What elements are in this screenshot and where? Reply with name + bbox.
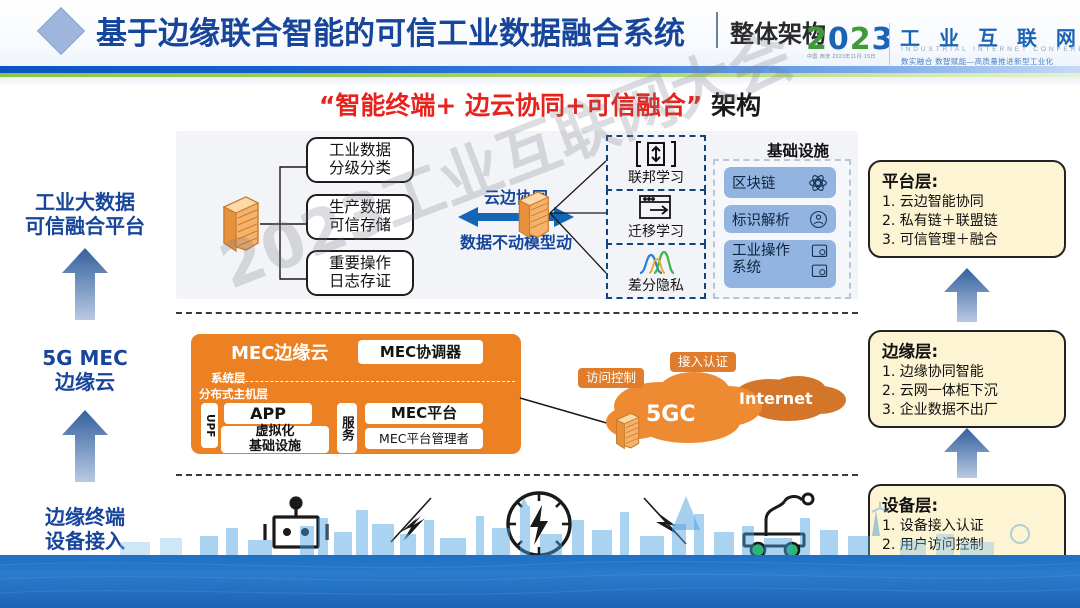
mec-edge-cloud-box: MEC边缘云 MEC协调器 系统层 分布式主机层 UPF APP 虚拟化 基础设…: [191, 334, 521, 454]
right-panel-edge-list: 1. 边缘协同智能 2. 云网一体柜下沉 3. 企业数据不出厂: [882, 363, 1062, 420]
header-bar-blue: [0, 66, 1080, 73]
platform-layer-panel: 工业数据 分级分类 生产数据 可信存储 重要操作 日志存证 云边协同 数据不动模…: [176, 131, 858, 299]
differential-privacy-label: 差分隐私: [608, 275, 704, 295]
slide-header: 基于边缘联合智能的可信工业数据融合系统 整体架构 2023 中国·西安 2023…: [0, 0, 1080, 66]
mec-app[interactable]: APP: [224, 403, 312, 424]
left-axis-label-edge: 5G MEC 边缘云: [10, 346, 160, 394]
industrial-os-icon: [811, 243, 828, 280]
internet-cloud-label: Internet: [739, 389, 813, 408]
mec-platform[interactable]: MEC平台: [365, 403, 483, 424]
transfer-learning-label: 迁移学习: [608, 221, 704, 241]
mec-host-layer-label: 分布式主机层: [199, 386, 268, 402]
infra-item-identity[interactable]: 标识解析: [724, 205, 836, 233]
water-ripple-decoration: [0, 555, 1080, 608]
slide-root: 基于边缘联合智能的可信工业数据融合系统 整体架构 2023 中国·西安 2023…: [0, 0, 1080, 608]
right-panel-edge[interactable]: 边缘层: 1. 边缘协同智能 2. 云网一体柜下沉 3. 企业数据不出厂: [868, 330, 1066, 428]
blockchain-icon: [808, 173, 828, 193]
right-panel-platform-list: 1. 云边智能协同 2. 私有链＋联盟链 3. 可信管理＋融合: [882, 193, 1062, 250]
page-title: 基于边缘联合智能的可信工业数据融合系统: [96, 8, 685, 53]
mec-layer-divider: [215, 381, 515, 382]
layer-separator-top: [176, 312, 858, 314]
right-panel-platform[interactable]: 平台层: 1. 云边智能协同 2. 私有链＋联盟链 3. 可信管理＋融合: [868, 160, 1066, 258]
logo-divider: [889, 23, 890, 65]
mec-edge-cloud-title: MEC边缘云: [231, 339, 328, 365]
up-arrow-edge-icon: [62, 410, 108, 482]
list-item: 3. 企业数据不出厂: [882, 401, 1062, 420]
federated-learning-icon: [636, 140, 676, 168]
list-item: 1. 云边智能协同: [882, 193, 1062, 212]
logo-english-name: INDUSTRIAL INTERNET CONFERENCE: [901, 46, 1080, 53]
infra-item-industrial-os-label: 工业操作系统: [732, 243, 790, 277]
differential-privacy-box: 差分隐私: [606, 243, 706, 299]
transfer-learning-icon: [636, 194, 676, 222]
up-arrow-right-platform-icon: [944, 268, 990, 322]
mec-orchestrator[interactable]: MEC协调器: [358, 340, 483, 364]
database-stack-icon-right: [516, 191, 550, 239]
up-arrow-right-edge-icon: [944, 428, 990, 478]
federated-learning-box: 联邦学习: [606, 135, 706, 191]
core-network-cloud-label: 5GC: [646, 402, 696, 427]
subtitle-dark: 架构: [702, 91, 761, 120]
differential-privacy-icon: [638, 249, 676, 275]
layer-separator-bottom: [176, 474, 858, 476]
infra-item-industrial-os[interactable]: 工业操作系统: [724, 240, 836, 288]
platform-box-1: 生产数据 可信存储: [306, 194, 414, 240]
federated-learning-label: 联邦学习: [608, 167, 704, 187]
list-item: 2. 云网一体柜下沉: [882, 382, 1062, 401]
architecture-subtitle: “智能终端+ 边云协同+可信融合” 架构: [0, 86, 1080, 120]
list-item: 3. 可信管理＋融合: [882, 231, 1062, 250]
logo-year: 2023: [806, 22, 894, 57]
up-arrow-platform-icon: [62, 248, 108, 320]
mec-service[interactable]: 服务: [337, 403, 357, 453]
learning-connector-lines: [548, 143, 614, 293]
conference-logo: 2023 中国·西安 2023年11月·15日 工 业 互 联 网 大 会 IN…: [806, 22, 1074, 68]
platform-box-0: 工业数据 分级分类: [306, 137, 414, 183]
city-skyline-decoration: [0, 490, 1080, 556]
list-item: 1. 边缘协同智能: [882, 363, 1062, 382]
title-divider: [716, 12, 718, 48]
mec-system-layer-label: 系统层: [211, 370, 246, 386]
identity-resolution-icon: [809, 210, 828, 229]
infra-item-identity-label: 标识解析: [732, 209, 790, 230]
mec-upf[interactable]: UPF: [201, 403, 218, 448]
right-panel-platform-title: 平台层:: [882, 168, 1062, 192]
header-bar-fade: [0, 77, 1080, 86]
subtitle-red: “智能终端+ 边云协同+可信融合”: [319, 91, 702, 120]
infra-item-blockchain-label: 区块链: [732, 172, 776, 193]
diamond-bullet-icon: [37, 7, 85, 55]
mec-platform-manager[interactable]: MEC平台管理者: [365, 428, 483, 449]
mec-virtualization[interactable]: 虚拟化 基础设施: [221, 426, 329, 453]
callout-access-control: 访问控制: [578, 368, 644, 388]
logo-year-sub: 中国·西安 2023年11月·15日: [807, 53, 876, 60]
left-axis-label-platform: 工业大数据 可信融合平台: [10, 190, 160, 238]
database-stack-icon: [220, 197, 260, 251]
transfer-learning-box: 迁移学习: [606, 189, 706, 245]
infra-item-blockchain[interactable]: 区块链: [724, 167, 836, 198]
platform-box-2: 重要操作 日志存证: [306, 250, 414, 296]
gateway-database-icon: [614, 412, 640, 450]
right-panel-edge-title: 边缘层:: [882, 338, 1062, 362]
infrastructure-title: 基础设施: [767, 139, 829, 161]
callout-access-auth: 接入认证: [670, 352, 736, 372]
list-item: 2. 私有链＋联盟链: [882, 212, 1062, 231]
